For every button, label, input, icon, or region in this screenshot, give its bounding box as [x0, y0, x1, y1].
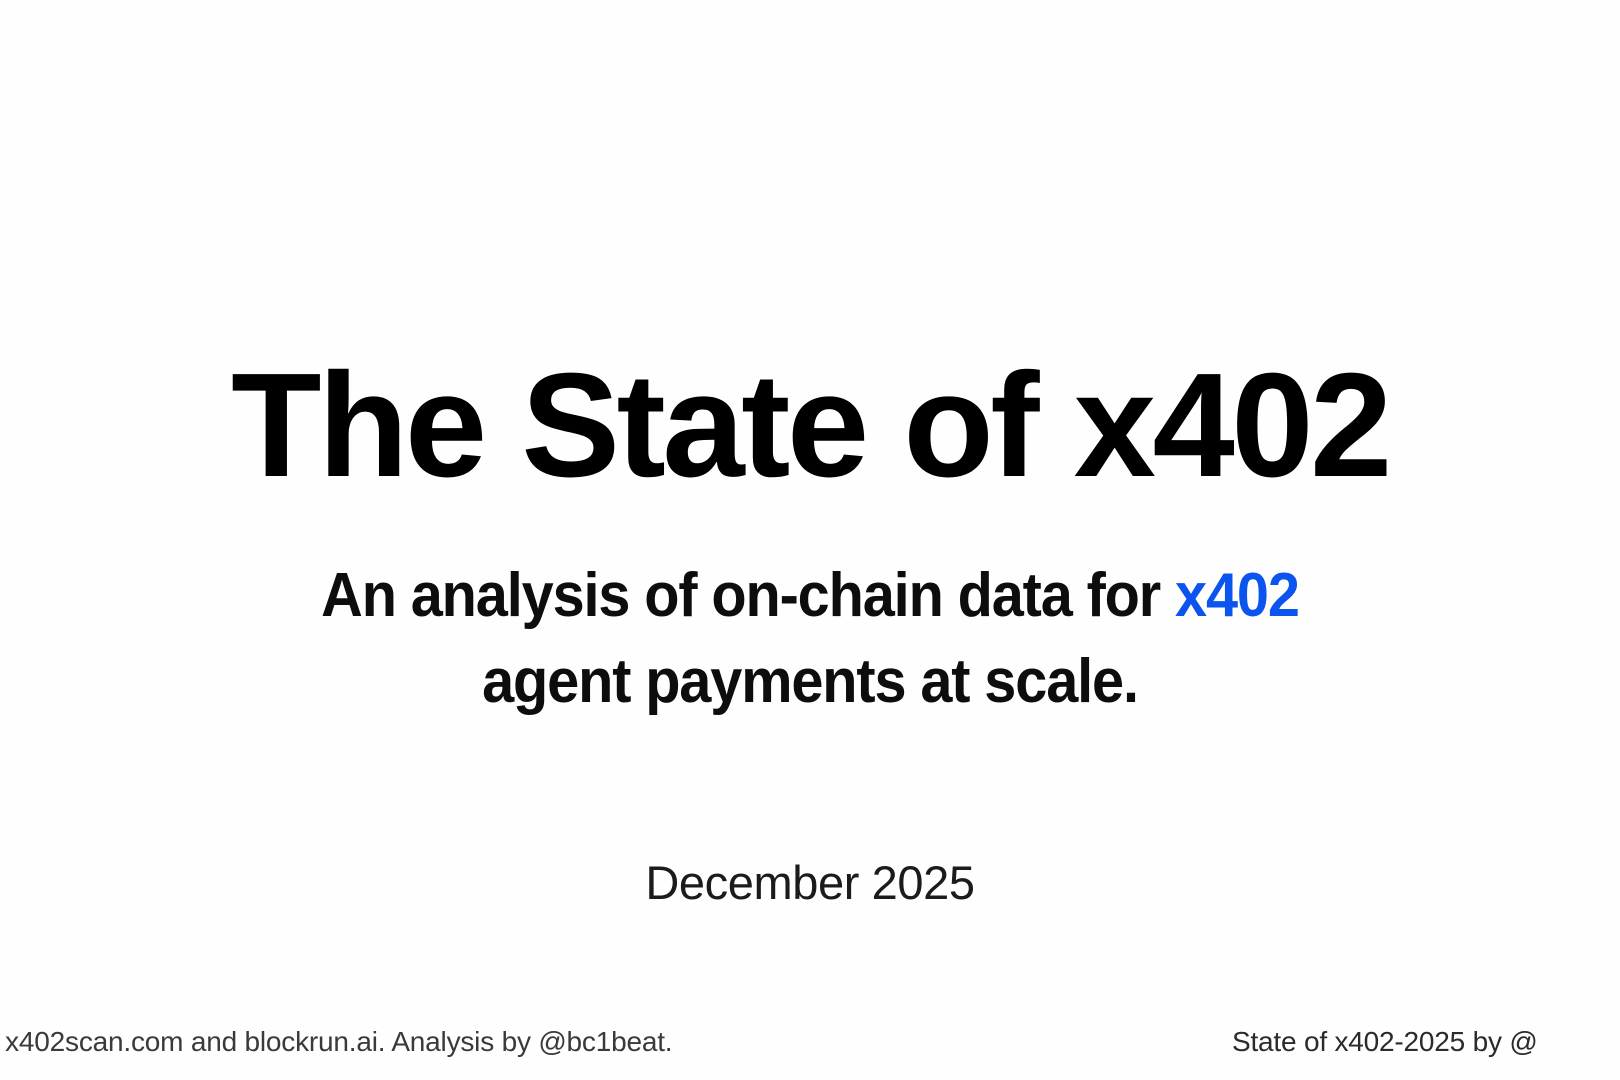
slide-date: December 2025 — [0, 855, 1620, 910]
subtitle-line-2: agent payments at scale. — [57, 639, 1564, 725]
slide-subtitle: An analysis of on-chain data for x402 ag… — [57, 553, 1564, 724]
page-title: The State of x402 — [0, 352, 1620, 500]
subtitle-line-1-text: An analysis of on-chain data for — [321, 561, 1175, 630]
title-slide: The State of x402 An analysis of on-chai… — [0, 0, 1620, 1080]
footer-source-note: ed from x402scan.com and blockrun.ai. An… — [0, 1026, 672, 1058]
slide-hero-block: The State of x402 An analysis of on-chai… — [0, 0, 1620, 1000]
slide-footer: ed from x402scan.com and blockrun.ai. An… — [0, 1000, 1620, 1080]
subtitle-accent-x402: x402 — [1175, 561, 1299, 630]
footer-deck-credit: State of x402-2025 by @ — [1232, 1026, 1538, 1058]
subtitle-line-1: An analysis of on-chain data for x402 — [57, 553, 1564, 639]
